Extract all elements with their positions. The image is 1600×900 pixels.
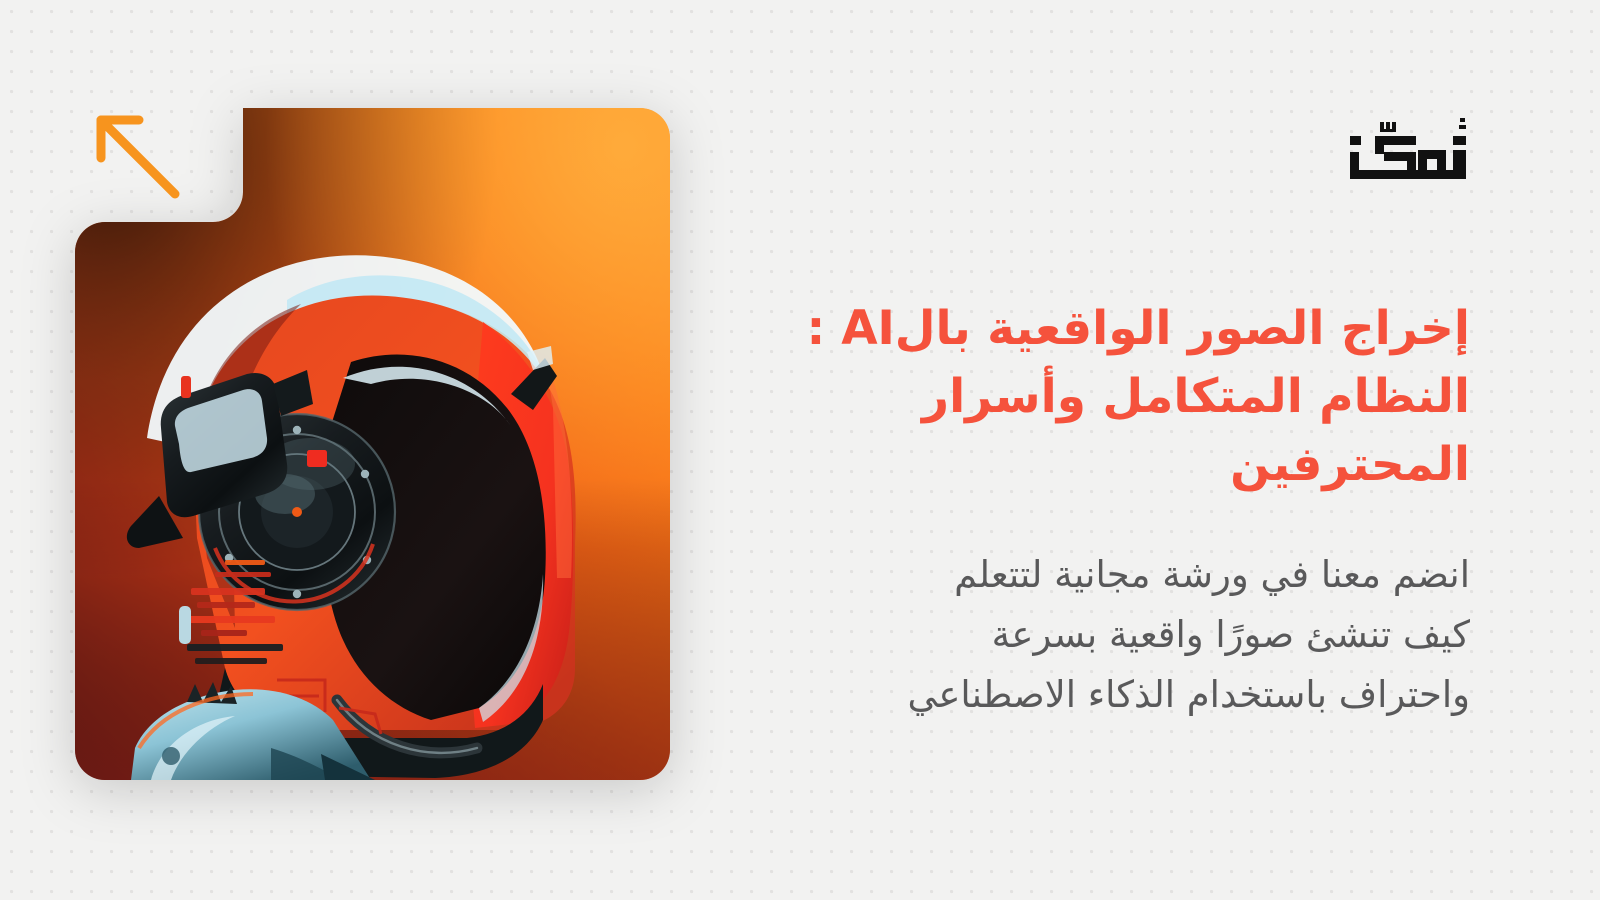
- headline-line-2: النظام المتكامل وأسرار: [922, 369, 1470, 424]
- headline-line-1: إخراج الصور الواقعية بالAI :: [806, 301, 1470, 356]
- page-title: إخراج الصور الواقعية بالAI : النظام المت…: [770, 295, 1470, 499]
- page-subtitle: انضم معنا في ورشة مجانية لتتعلم كيف تنشئ…: [770, 545, 1470, 725]
- subtitle-line-1: انضم معنا في ورشة مجانية لتتعلم: [954, 553, 1470, 596]
- namakkin-wordmark: [1320, 112, 1470, 190]
- headline-line-3: المحترفين: [1230, 437, 1470, 492]
- subtitle-line-2: كيف تنشئ صورًا واقعية بسرعة: [992, 613, 1470, 656]
- subtitle-line-3: واحتراف باستخدام الذكاء الاصطناعي: [907, 673, 1470, 716]
- arrow-up-left-icon: [93, 112, 193, 212]
- content-column: إخراج الصور الواقعية بالAI : النظام المت…: [770, 0, 1470, 900]
